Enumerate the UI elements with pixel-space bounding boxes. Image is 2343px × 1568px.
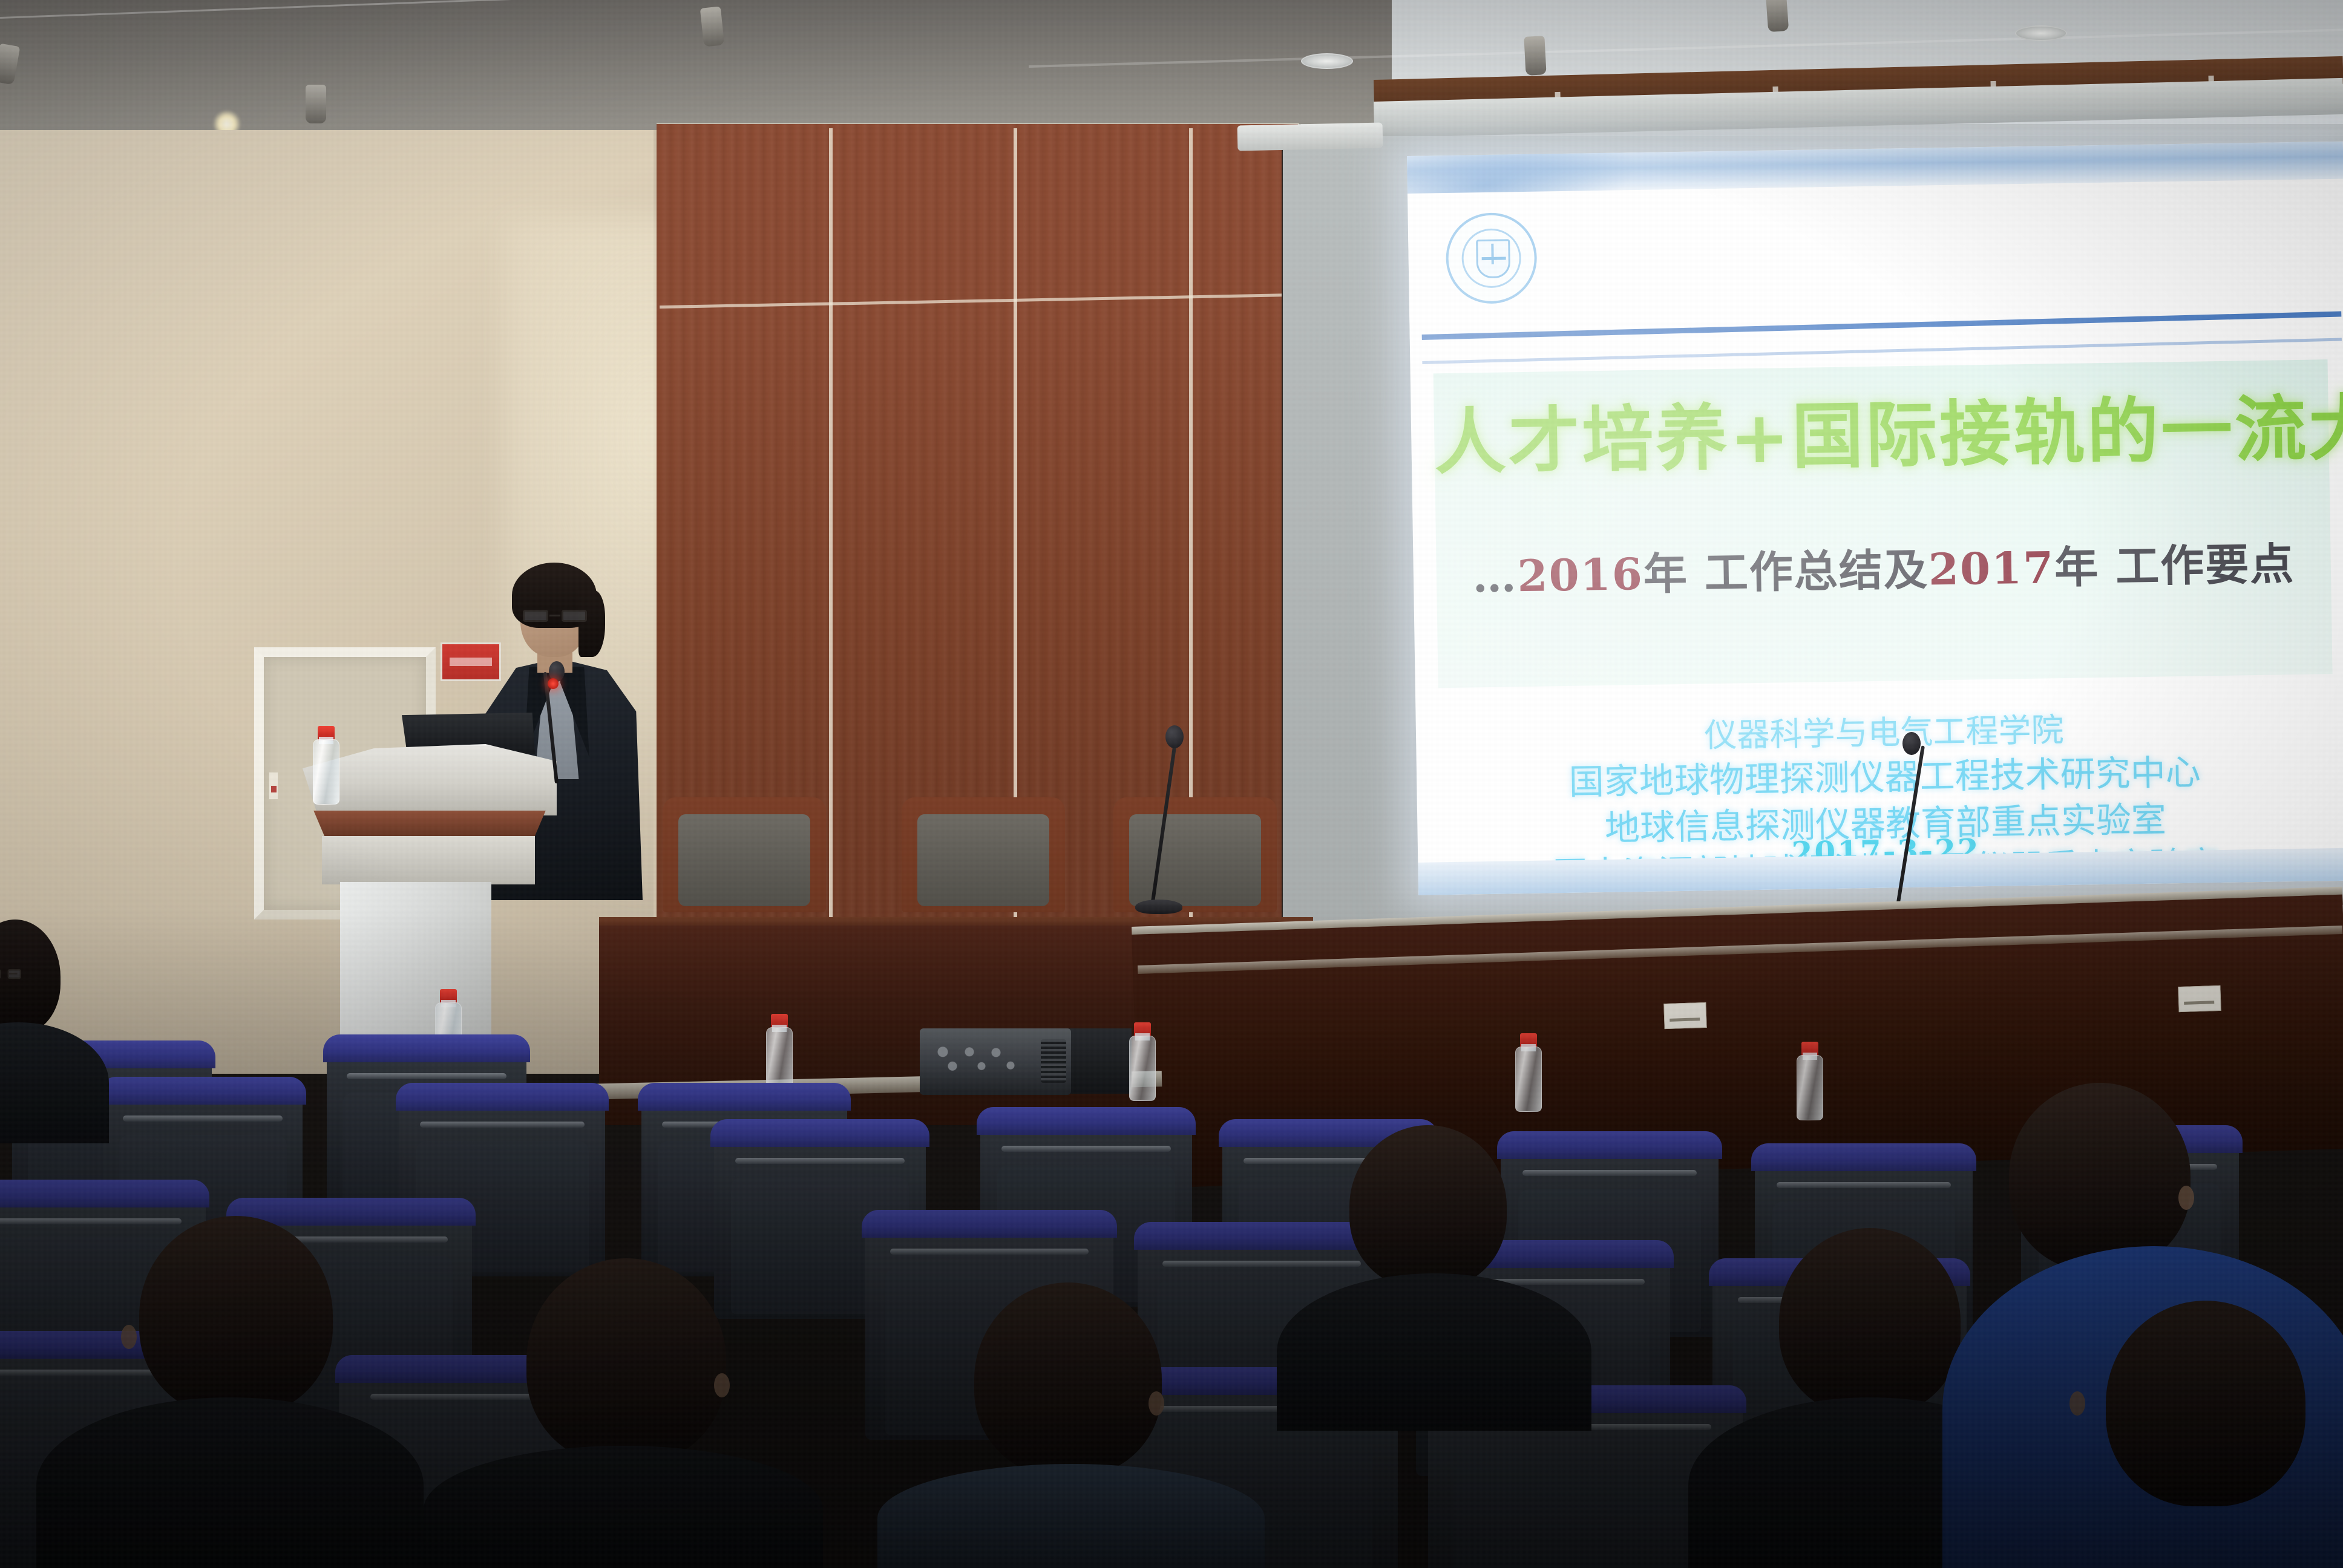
- screen-roller-end: [1237, 122, 1383, 151]
- slide-subtitle-mid-1: 年 工作总结及: [1643, 544, 1928, 599]
- stage-chair: [902, 797, 1065, 912]
- water-bottle: [1794, 1042, 1826, 1120]
- downlight-icon: [1301, 53, 1353, 69]
- slide-subtitle-year-2017: 2017: [1928, 541, 2055, 595]
- water-bottle: [764, 1014, 795, 1093]
- bench-label-card: [2178, 985, 2221, 1012]
- spotlight-icon: [1524, 36, 1546, 76]
- ear: [121, 1325, 137, 1349]
- water-bottle: [1513, 1033, 1544, 1112]
- projector-ports: [928, 1042, 1049, 1076]
- seated-attendee-shoulders: [1277, 1273, 1591, 1431]
- ear: [714, 1373, 730, 1397]
- spotlight-icon: [1766, 0, 1789, 32]
- bench-label-card: [1663, 1002, 1706, 1029]
- water-bottle: [310, 726, 342, 805]
- slide-subtitle-year-2016: 2016: [1517, 548, 1644, 601]
- spotlight-icon: [306, 85, 326, 123]
- slide-title-band: 人才培养+国际接轨的一流大学科建设 …2016年 工作总结及2017年 工作要点: [1434, 359, 2333, 688]
- seated-attendee-shoulders: [424, 1446, 823, 1568]
- podium-base: [340, 882, 491, 1057]
- projector: [920, 1028, 1071, 1095]
- spotlight-icon: [700, 6, 725, 47]
- seated-attendee-head: [526, 1258, 726, 1464]
- seated-attendee-head: [1779, 1228, 1961, 1416]
- seated-attendee-shoulders: [36, 1397, 424, 1568]
- slide-subtitle: …2016年 工作总结及2017年 工作要点: [1436, 528, 2331, 605]
- ear: [2178, 1186, 2194, 1210]
- slide-header-rule-secondary: [1422, 338, 2342, 364]
- podium-wood-lip: [306, 811, 553, 840]
- slide-title: 人才培养+国际接轨的一流大学科建设: [1434, 370, 2330, 488]
- wood-divider-line: [829, 128, 833, 927]
- slide-subtitle-mid-2: 年 工作要点: [2054, 538, 2295, 593]
- projected-slide: 人才培养+国际接轨的一流大学科建设 …2016年 工作总结及2017年 工作要点…: [1407, 142, 2343, 895]
- stage-chair: [663, 797, 826, 912]
- seated-attendee-head: [974, 1282, 1162, 1476]
- podium-mid-section: [322, 836, 535, 884]
- seated-attendee-head: [2106, 1301, 2305, 1506]
- eyeglasses-icon: [523, 610, 587, 622]
- seated-attendee-head: [1349, 1125, 1507, 1289]
- stage-chair: [1113, 797, 1277, 912]
- projector-case: [1065, 1028, 1132, 1094]
- water-bottle: [1127, 1022, 1158, 1101]
- slide-subtitle-prefix: …: [1472, 550, 1518, 602]
- presenter-hair-side: [578, 590, 605, 657]
- light-switch-icon[interactable]: [269, 772, 278, 800]
- seated-attendee-head: [139, 1216, 333, 1416]
- conference-hall-scene: 人才培养+国际接轨的一流大学科建设 …2016年 工作总结及2017年 工作要点…: [0, 0, 2343, 1568]
- seated-attendee-shoulders: [877, 1464, 1265, 1568]
- downlight-icon: [2015, 25, 2067, 41]
- name-card: [441, 642, 501, 681]
- ear: [1149, 1391, 1164, 1416]
- projector-vent: [1041, 1039, 1066, 1083]
- ear: [2069, 1391, 2085, 1416]
- seated-attendee-head: [2009, 1083, 2191, 1270]
- eyeglasses-icon: [0, 969, 21, 979]
